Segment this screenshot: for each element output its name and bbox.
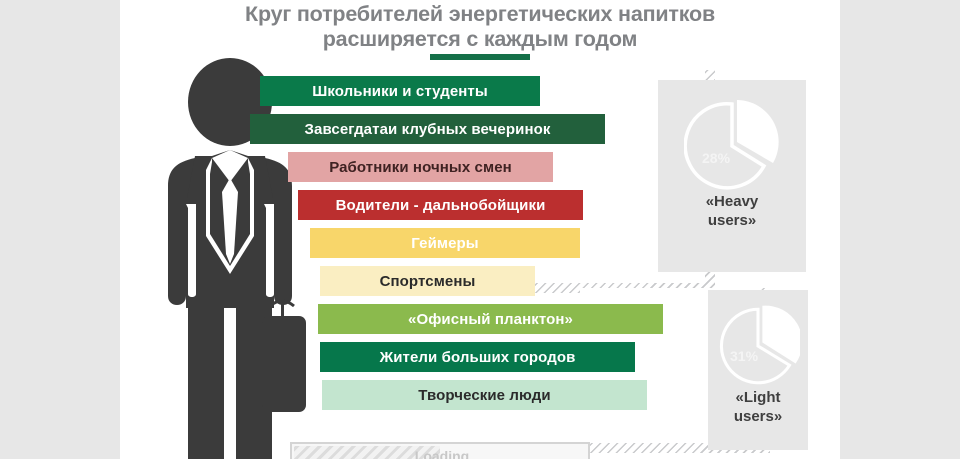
segment-bar-label: Спортсмены <box>380 273 476 290</box>
segment-bar[interactable]: Жители больших городов <box>320 342 635 372</box>
pie-chart-light-users: 31% <box>716 304 800 393</box>
segment-bar-label: Завсегдатаи клубных вечеринок <box>305 121 551 138</box>
loading-label: Loading <box>292 448 592 459</box>
segment-bar[interactable]: Водители - дальнобойщики <box>298 190 583 220</box>
segment-bar-label: «Офисный планктон» <box>408 311 573 328</box>
segment-bar[interactable]: «Офисный планктон» <box>318 304 663 334</box>
segment-bar[interactable]: Спортсмены <box>320 266 535 296</box>
segment-bar[interactable]: Творческие люди <box>322 380 647 410</box>
pie-caption-heavy-users-line-1: «Heavy <box>658 192 806 211</box>
segment-bar[interactable]: Завсегдатаи клубных вечеринок <box>250 114 605 144</box>
segment-bar[interactable]: Школьники и студенты <box>260 76 540 106</box>
pie-percent-label-heavy-users: 28% <box>702 150 730 166</box>
segment-bar-label: Школьники и студенты <box>312 83 488 100</box>
page-title: Круг потребителей энергетических напитко… <box>120 2 840 52</box>
pie-card-heavy-users: 28% «Heavy users» <box>658 80 806 272</box>
segment-bar-label: Геймеры <box>411 235 478 252</box>
infographic-canvas: Круг потребителей энергетических напитко… <box>0 0 960 459</box>
segment-bar[interactable]: Работники ночных смен <box>288 152 553 182</box>
segment-bar-label: Работники ночных смен <box>329 159 512 176</box>
page-title-line-1: Круг потребителей энергетических напитко… <box>120 2 840 27</box>
pie-caption-light-users-line-1: «Light <box>708 388 808 407</box>
title-accent-rule <box>430 54 530 60</box>
pie-chart-heavy-users: 28% <box>684 98 780 199</box>
page-title-line-2: расширяется с каждым годом <box>120 27 840 52</box>
segment-bar-label: Водители - дальнобойщики <box>336 197 546 214</box>
pie-percent-label-light-users: 31% <box>730 348 758 364</box>
segment-bar-label: Жители больших городов <box>380 349 576 366</box>
loading-progress-bar: Loading <box>290 442 590 459</box>
segment-bar-label: Творческие люди <box>418 387 550 404</box>
pie-caption-light-users-line-2: users» <box>708 407 808 426</box>
pie-card-light-users: 31% «Light users» <box>708 290 808 450</box>
pie-caption-heavy-users-line-2: users» <box>658 211 806 230</box>
segment-bar[interactable]: Геймеры <box>310 228 580 258</box>
